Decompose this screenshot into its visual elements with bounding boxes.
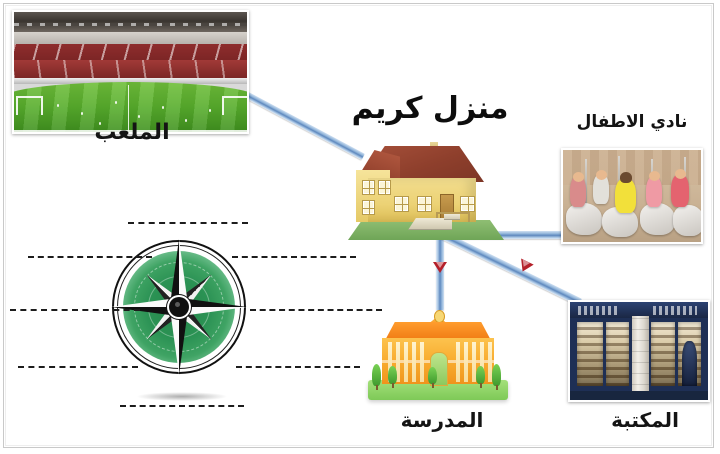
answer-line-southeast[interactable] bbox=[236, 366, 360, 368]
school-illustration bbox=[368, 300, 508, 400]
compass-hub bbox=[169, 297, 189, 317]
answer-line-southwest[interactable] bbox=[18, 366, 138, 368]
arrow-down-notch-school bbox=[436, 262, 444, 268]
answer-line-north[interactable] bbox=[128, 222, 248, 224]
label-stadium: الملعب bbox=[62, 120, 202, 145]
house-illustration bbox=[348, 140, 504, 240]
label-children-club: نادي الاطفال bbox=[562, 112, 702, 132]
answer-line-northwest[interactable] bbox=[28, 256, 152, 258]
answer-line-east[interactable] bbox=[250, 309, 382, 311]
library-photo bbox=[568, 300, 710, 402]
label-library: المكتبة bbox=[580, 408, 710, 432]
worksheet-canvas: الملعب منزل كريم نادي الاطفال bbox=[0, 0, 720, 454]
compass-shadow bbox=[136, 392, 228, 401]
school-clock-icon bbox=[434, 310, 445, 323]
stadium-photo bbox=[12, 10, 249, 134]
children-club-photo bbox=[561, 148, 703, 244]
page-title: منزل كريم bbox=[330, 92, 530, 126]
compass-rose bbox=[112, 240, 246, 374]
answer-line-northeast[interactable] bbox=[232, 256, 356, 258]
answer-line-west[interactable] bbox=[10, 309, 140, 311]
label-school: المدرسة bbox=[372, 408, 512, 432]
answer-line-south[interactable] bbox=[120, 405, 244, 407]
